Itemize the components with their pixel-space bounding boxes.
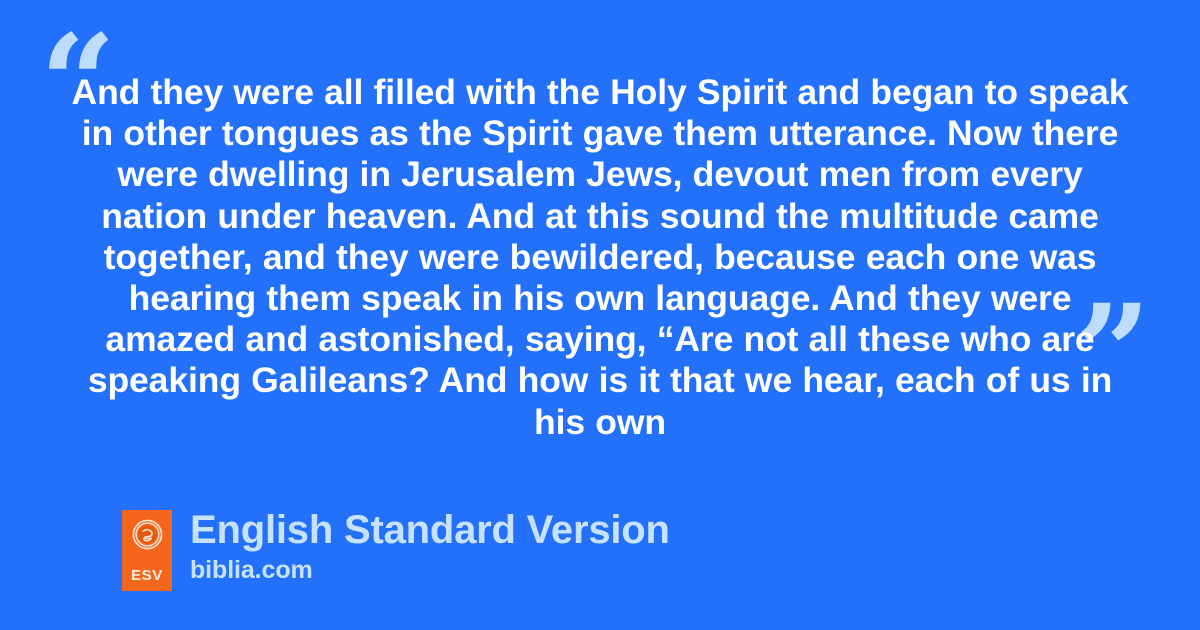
esv-seal-icon — [132, 519, 163, 550]
attribution-text: English Standard Version biblia.com — [190, 506, 670, 585]
bible-version-name: English Standard Version — [190, 506, 670, 554]
quote-text: And they were all filled with the Holy S… — [60, 72, 1140, 443]
quote-card: “ ” And they were all filled with the Ho… — [0, 0, 1200, 630]
quote-block: And they were all filled with the Holy S… — [60, 72, 1140, 443]
site-url: biblia.com — [190, 555, 670, 585]
esv-abbreviation: ESV — [131, 568, 163, 583]
esv-badge: ESV — [122, 510, 172, 591]
attribution: ESV English Standard Version biblia.com — [122, 510, 670, 591]
